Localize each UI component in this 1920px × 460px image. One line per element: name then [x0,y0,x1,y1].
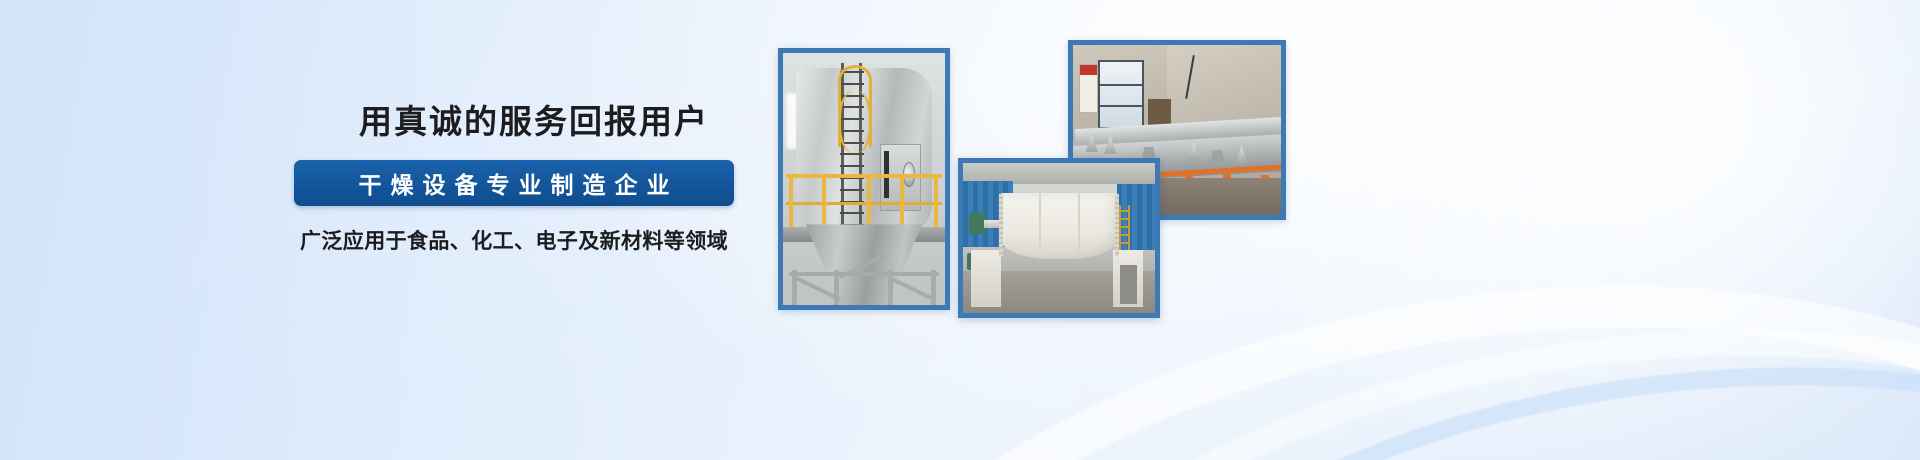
banner-slogan-text: 干燥设备专业制造企业 [350,166,679,200]
photo-ribbon-mixer [958,158,1160,318]
photo-spray-dryer-image [783,53,945,305]
banner-headline: 用真诚的服务回报用户 [314,104,754,140]
banner-tagline: 广泛应用于食品、化工、电子及新材料等领域 [294,225,734,255]
banner-slogan-pill: 干燥设备专业制造企业 [294,160,734,206]
photo-spray-dryer [778,48,950,310]
hero-banner: 用真诚的服务回报用户 干燥设备专业制造企业 广泛应用于食品、化工、电子及新材料等… [0,0,1920,460]
background-glow [1200,0,1920,460]
decorative-swoosh-arc-3 [1005,304,1920,460]
banner-text-block: 用真诚的服务回报用户 干燥设备专业制造企业 广泛应用于食品、化工、电子及新材料等… [294,104,754,255]
photo-ribbon-mixer-image [963,163,1155,313]
